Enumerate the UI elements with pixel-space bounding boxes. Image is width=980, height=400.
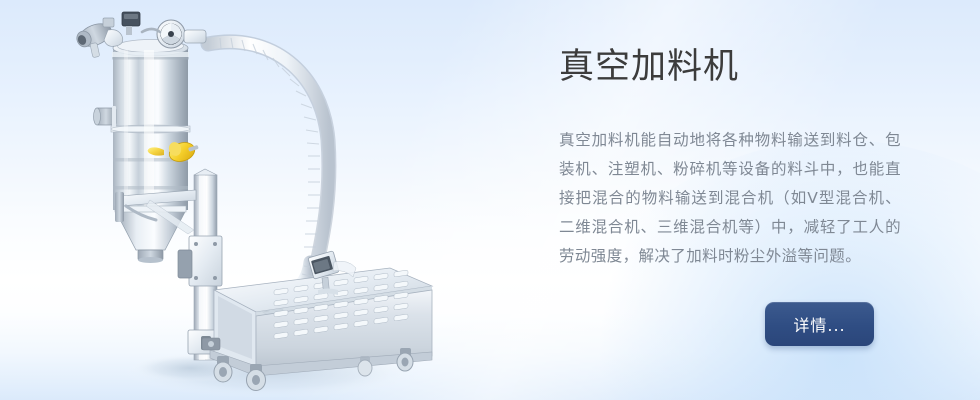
product-description: 真空加料机能自动地将各种物料输送到料仓、包装机、注塑机、粉碎机等设备的料斗中，也… [559,126,901,271]
frame-bracket [202,338,220,350]
post-clamp-bracket [178,236,222,286]
copy-block: 真空加料机 真空加料机能自动地将各种物料输送到料仓、包装机、注塑机、粉碎机等设备… [559,44,959,271]
side-inlet-nozzle [94,106,117,127]
flexible-suction-hose [208,38,329,268]
product-image [60,0,480,400]
hero-banner: 真空加料机 真空加料机能自动地将各种物料输送到料仓、包装机、注塑机、粉碎机等设备… [0,0,980,400]
page-title: 真空加料机 [559,44,959,90]
electrical-junction-box [122,12,140,35]
details-button[interactable]: 详情... [765,302,874,346]
discharge-cone-outlet [115,210,186,250]
impeller-fan-wheel [157,20,185,48]
